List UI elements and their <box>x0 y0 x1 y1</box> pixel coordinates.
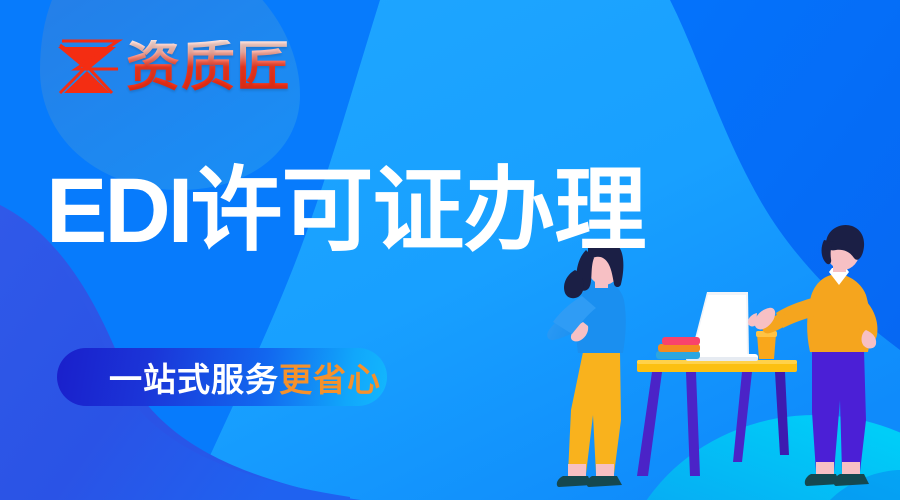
page-title: EDI许可证办理 <box>46 163 645 260</box>
hourglass-z-mark-icon <box>52 35 124 99</box>
subtitle-pill[interactable]: 一站式服务更省心 <box>57 348 387 406</box>
woman-figure <box>547 241 626 487</box>
headline-cjk: 许可证办理 <box>190 157 645 264</box>
banner-canvas: 资质匠 EDI许可证办理 一站式服务更省心 <box>0 0 900 500</box>
brand-name: 资质匠 <box>126 40 291 94</box>
subtitle-primary: 一站式服务 <box>109 360 279 399</box>
headline-latin: EDI <box>46 160 190 262</box>
subtitle-accent: 更省心 <box>279 360 381 399</box>
brand-logo[interactable]: 资质匠 <box>52 33 291 101</box>
subtitle-text: 一站式服务更省心 <box>109 353 381 401</box>
